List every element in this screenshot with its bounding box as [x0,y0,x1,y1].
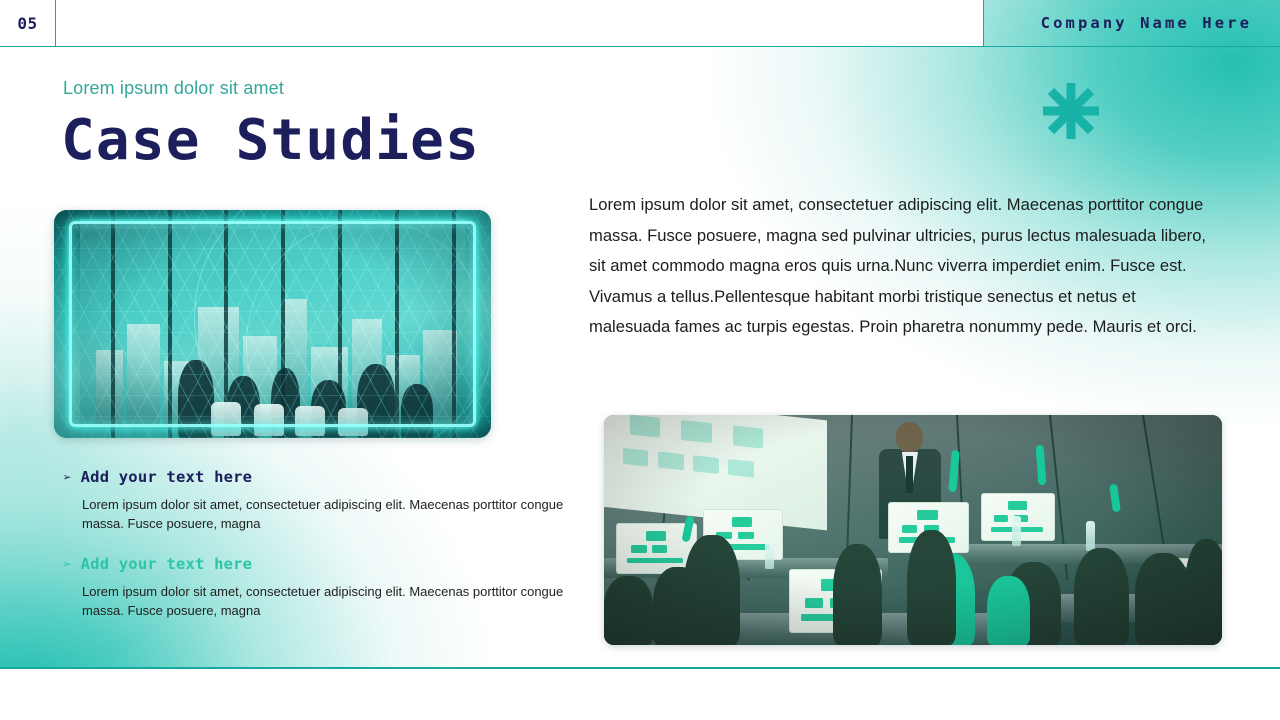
bullet-heading-2: ➢ Add your text here [63,555,583,573]
header-divider-right [983,0,984,47]
slide-canvas: 05 Company Name Here Lorem ipsum dolor s… [0,0,1280,720]
bullet-body-2: Lorem ipsum dolor sit amet, consectetuer… [82,582,574,621]
footer-divider [0,667,1280,669]
company-name: Company Name Here [1041,0,1252,46]
body-paragraph: Lorem ipsum dolor sit amet, consectetuer… [589,190,1209,343]
bullet-body-1: Lorem ipsum dolor sit amet, consectetuer… [82,495,574,534]
list-item: ➢ Add your text here Lorem ipsum dolor s… [63,468,583,534]
arrow-bullet-icon: ➢ [63,558,72,572]
eyebrow-text: Lorem ipsum dolor sit amet [63,78,284,99]
left-image-neon-frame [69,221,476,427]
bullet-list: ➢ Add your text here Lorem ipsum dolor s… [63,468,583,642]
bullet-heading-label: Add your text here [81,555,253,573]
page-number: 05 [0,0,55,46]
header-divider-left [55,0,56,47]
asterisk-icon [1040,80,1102,142]
right-image-seminar [604,415,1222,645]
right-image-vignette [604,415,1222,645]
header-background [56,0,983,46]
slide-header: 05 Company Name Here [0,0,1280,47]
header-underline [0,46,1280,47]
page-title: Case Studies [61,112,480,171]
footer-background [0,668,1280,720]
list-item: ➢ Add your text here Lorem ipsum dolor s… [63,555,583,621]
arrow-bullet-icon: ➢ [63,471,72,485]
left-image-boardroom [54,210,491,438]
bullet-heading-label: Add your text here [81,468,253,486]
bullet-heading-1: ➢ Add your text here [63,468,583,486]
